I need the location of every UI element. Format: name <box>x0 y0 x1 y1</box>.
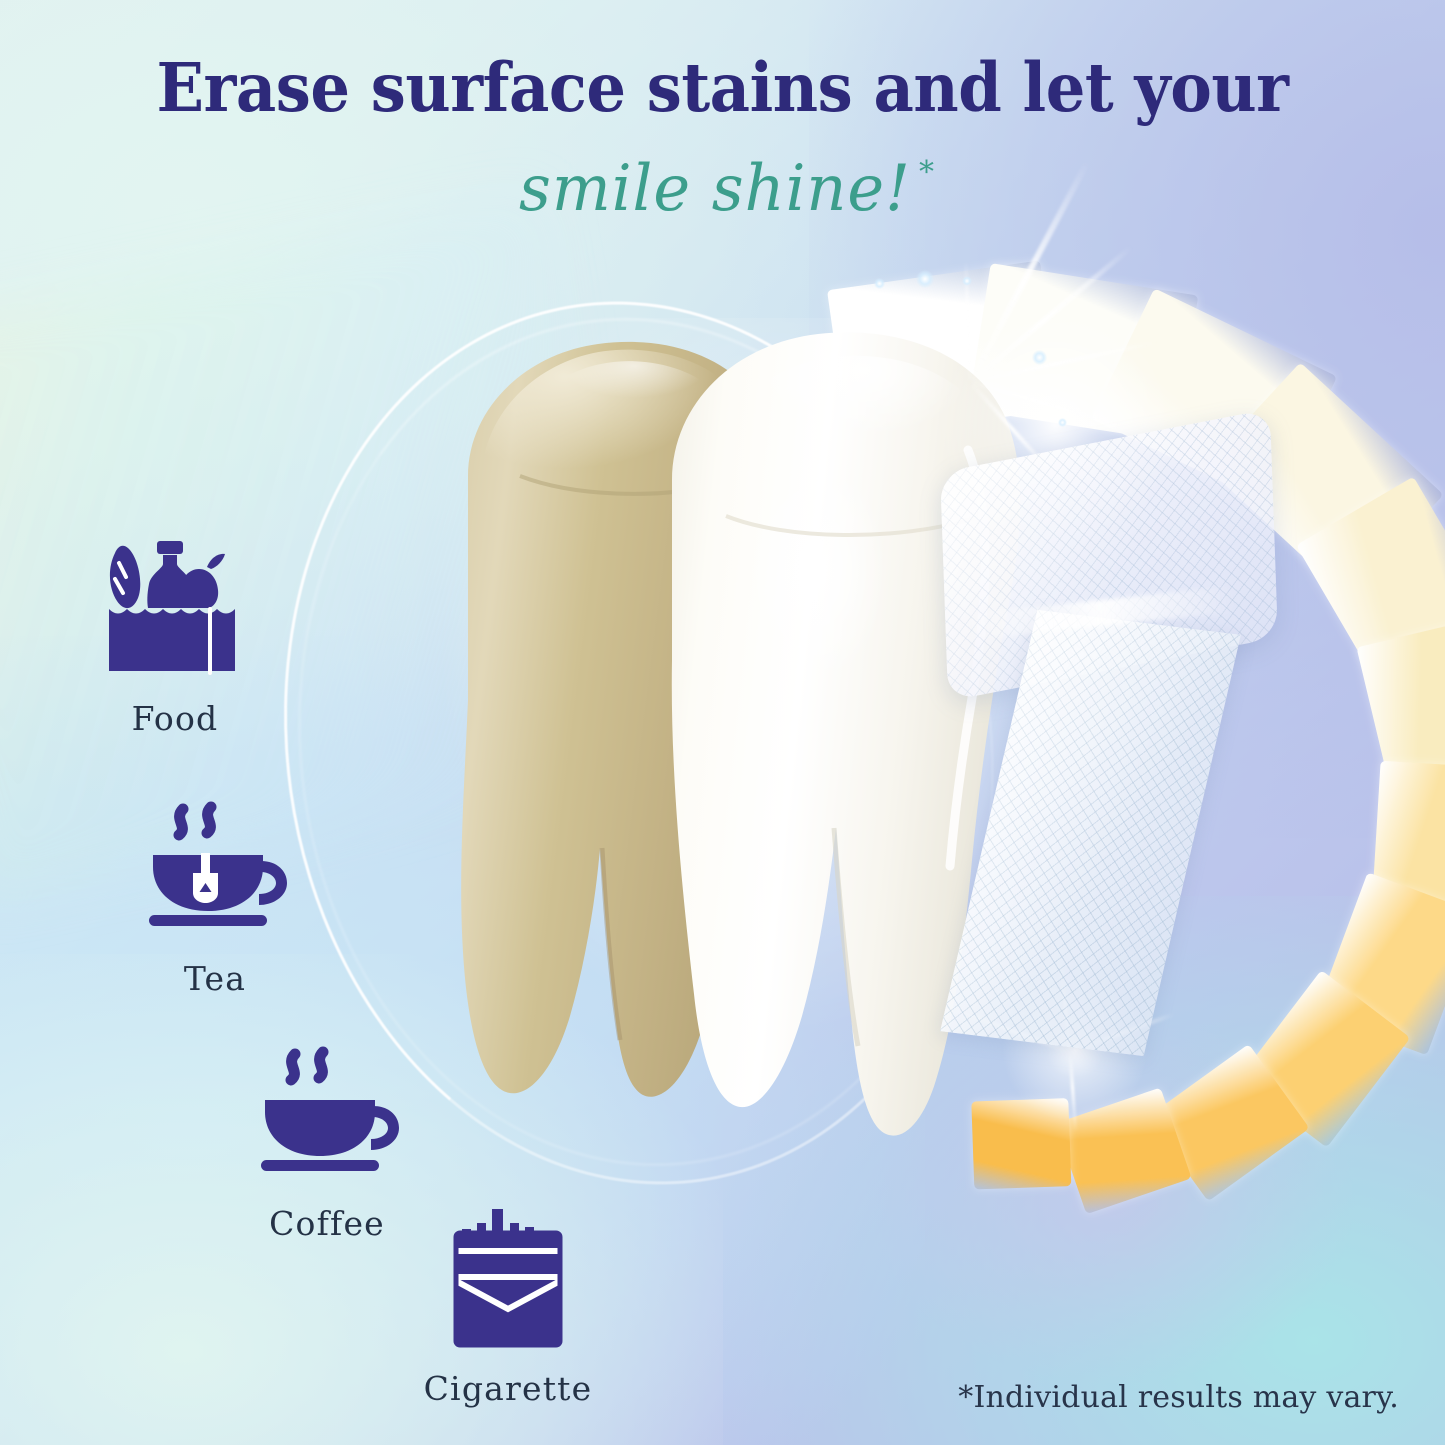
subheadline-asterisk: * <box>919 155 934 190</box>
subheadline-text: smile shine! <box>519 152 911 226</box>
disclaimer-footnote: *Individual results may vary. <box>958 1380 1399 1415</box>
ad-canvas: Food Tea <box>0 0 1445 1445</box>
teacup-icon <box>139 795 291 945</box>
cigarette-pack-icon <box>438 1205 578 1355</box>
stain-source-cigarette[interactable]: Cigarette <box>388 1205 628 1408</box>
stain-source-food[interactable]: Food <box>60 535 290 738</box>
stain-source-tea[interactable]: Tea <box>100 795 330 998</box>
page-headline: Erase surface stains and let your <box>51 52 1395 123</box>
page-subheadline: smile shine!* <box>0 152 1445 226</box>
whitening-strip <box>944 440 1344 1040</box>
stain-source-label-food: Food <box>60 699 290 738</box>
stain-source-label-tea: Tea <box>100 959 330 998</box>
coffee-cup-icon <box>251 1040 403 1190</box>
stain-source-label-cigarette: Cigarette <box>388 1369 628 1408</box>
grocery-bag-icon <box>101 535 249 685</box>
